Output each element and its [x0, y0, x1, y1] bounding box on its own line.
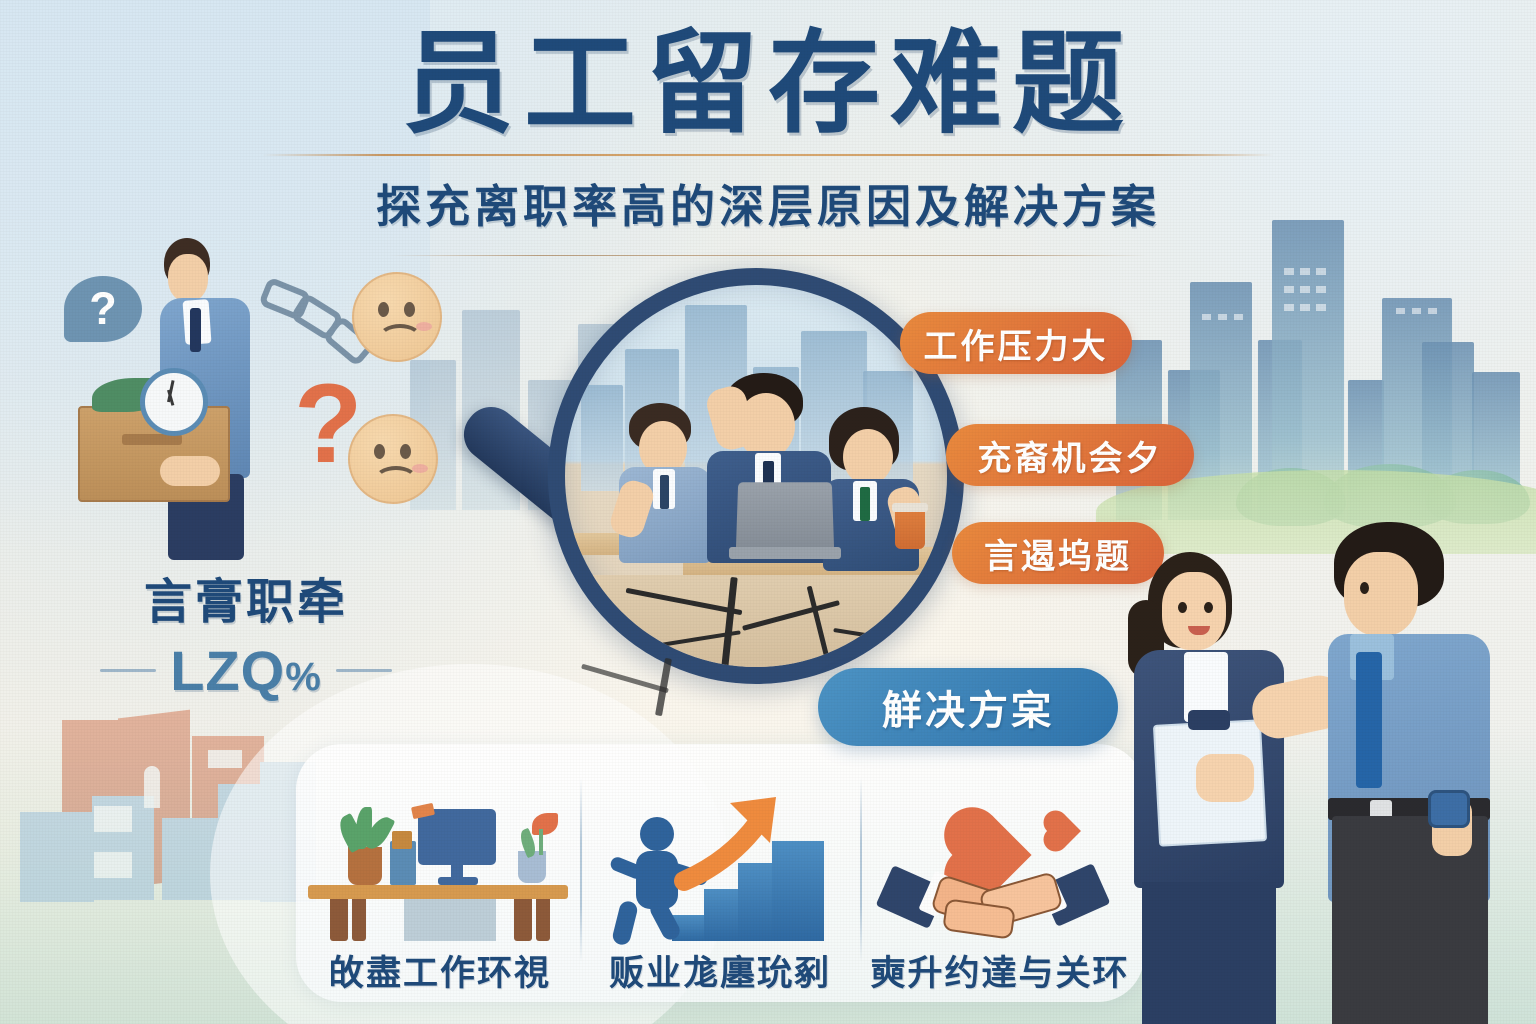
stat-value-row: LZQ%: [96, 638, 396, 703]
solution-label: 奭升约達与关环: [870, 945, 1129, 996]
infographic-poster: 员工留存难题 探充离职率高的深层原因及解决方案 ?: [0, 0, 1536, 1024]
stairs-arrow-icon: [580, 789, 860, 939]
handshake-heart-icon: [860, 789, 1140, 939]
growth-arrow-icon: [580, 789, 860, 939]
sad-face-icon: [352, 272, 442, 362]
laptop-base: [729, 547, 841, 559]
stat-value: LZQ%: [170, 638, 322, 703]
solution-item-communication-care[interactable]: 奭升约達与关环: [860, 750, 1140, 996]
wristwatch: [1428, 790, 1470, 828]
question-bubble: ?: [64, 276, 142, 342]
cause-tag-few-promotions[interactable]: 充裔机会夕: [946, 424, 1194, 486]
stat-dash-left: [100, 669, 156, 672]
turnover-rate-stat: 言膏职牵 LZQ%: [96, 562, 396, 703]
wall-clock: [140, 368, 208, 436]
cause-tag-work-pressure[interactable]: 工作压力大: [900, 312, 1132, 374]
magnifier-scene: [520, 258, 950, 688]
eye: [1360, 582, 1369, 594]
solution-label: 敀盡工作环視: [329, 945, 551, 996]
eye: [1204, 602, 1213, 613]
coffee-cup-lid: [892, 503, 928, 512]
solution-badge[interactable]: 觧决方宲: [818, 668, 1118, 746]
poster-header: 员工留存难题 探充离职率高的深层原因及解决方案: [0, 28, 1536, 256]
coffee-cup: [895, 509, 925, 549]
hr-manager-hand: [1196, 754, 1254, 802]
heart-icon-small: [1047, 814, 1081, 848]
hr-manager-skirt: [1142, 882, 1276, 1024]
employee-necktie: [190, 308, 201, 352]
employee-necktie: [1356, 652, 1382, 788]
stat-label: 言膏职牵: [96, 562, 396, 632]
page-title: 员工留存难题: [0, 28, 1536, 140]
solutions-list: 敀盡工作环視 贩业尨廛玧剢: [300, 750, 1140, 996]
subtitle-divider: [389, 255, 1147, 256]
clipboard-clamp: [1188, 710, 1230, 730]
departing-employee-illustration: ? ?: [56, 228, 396, 558]
hr-manager-face: [1162, 572, 1226, 650]
employee-head: [168, 254, 208, 302]
laptop: [736, 482, 834, 553]
stat-dash-right: [336, 669, 392, 672]
hr-conversation-illustration: [1100, 504, 1530, 1024]
desk-monitor-icon: [300, 789, 580, 939]
employee-face: [1344, 552, 1418, 636]
solution-item-improve-workplace[interactable]: 敀盡工作环視: [300, 750, 580, 996]
title-divider: [262, 154, 1274, 156]
solution-label: 贩业尨廛玧剢: [609, 945, 831, 996]
employee-hand: [160, 456, 220, 486]
orange-question-mark: ?: [294, 374, 362, 475]
solution-item-career-growth[interactable]: 贩业尨廛玧剢: [580, 750, 860, 996]
eye: [1178, 602, 1187, 613]
page-subtitle: 探充离职率高的深层原因及解决方案: [0, 170, 1536, 235]
